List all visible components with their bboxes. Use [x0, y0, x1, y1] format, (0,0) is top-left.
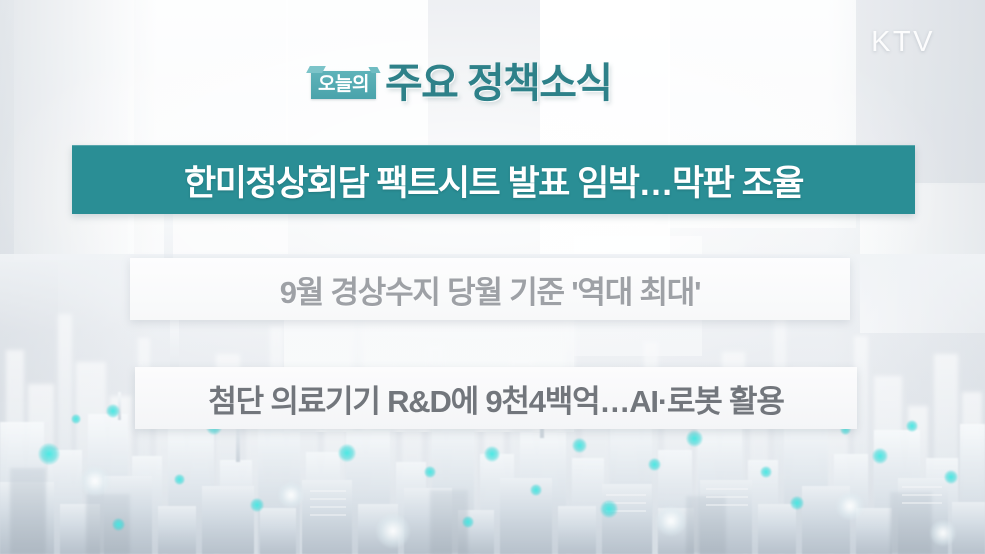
program-title-group: 오늘의 주요 정책소식	[311, 63, 611, 104]
headline-text-1: 9월 경상수지 당월 기준 '역대 최대'	[280, 267, 701, 312]
headline-text-0: 한미정상회담 팩트시트 발표 임박…막판 조율	[184, 155, 803, 206]
headline-bar-secondary-1[interactable]: 9월 경상수지 당월 기준 '역대 최대'	[130, 258, 850, 320]
bar-stand-post	[170, 320, 179, 370]
headline-bar-secondary-2[interactable]: 첨단 의료기기 R&D에 9천4백억…AI·로봇 활용	[135, 367, 857, 429]
ktv-channel-logo: KTV	[871, 26, 935, 59]
headline-bar-primary[interactable]: 한미정상회담 팩트시트 발표 임박…막판 조율	[72, 145, 915, 214]
program-title-text: 주요 정책소식	[385, 63, 612, 104]
broadcast-graphic-frame: KTV 오늘의 주요 정책소식 한미정상회담 팩트시트 발표 임박…막판 조율 …	[0, 0, 985, 554]
headline-text-2: 첨단 의료기기 R&D에 9천4백억…AI·로봇 활용	[208, 376, 783, 421]
program-title-badge: 오늘의	[311, 71, 376, 99]
bar-stand-post	[164, 214, 173, 262]
